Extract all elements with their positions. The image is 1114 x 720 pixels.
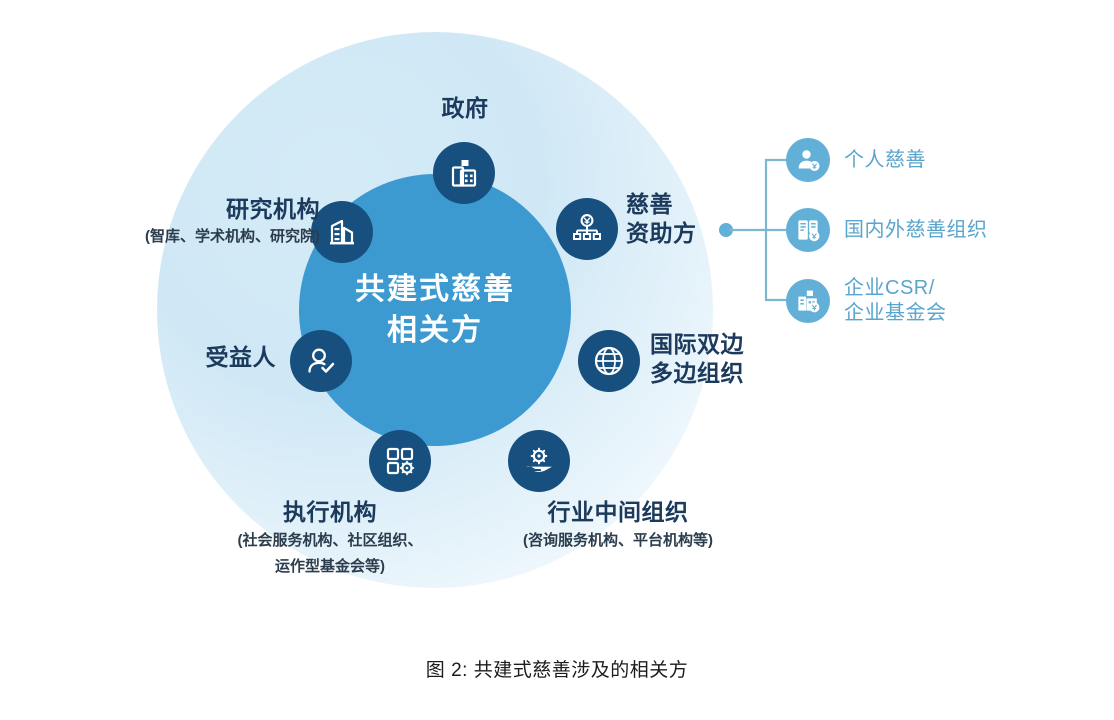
funding-hierarchy-icon[interactable] (556, 198, 618, 260)
label-government: 政府 (395, 94, 535, 123)
center-label-line1: 共建式慈善 (355, 269, 515, 310)
label-research-institution-subtitle: (智库、学术机构、研究院) (20, 227, 320, 246)
branch-item-individual-philanthropy[interactable]: 个人慈善 (786, 138, 926, 182)
person-money-icon (786, 138, 830, 182)
figure-caption: 图 2: 共建式慈善涉及的相关方 (0, 655, 1114, 682)
globe-icon[interactable] (578, 330, 640, 392)
person-check-icon[interactable] (290, 330, 352, 392)
center-label-line2: 相关方 (387, 310, 483, 351)
label-research-institution-title: 研究机构 (20, 195, 320, 224)
label-industry-intermediary-title: 行业中间组织 (468, 498, 768, 527)
branch-label-line1: 个人慈善 (844, 149, 926, 171)
office-building-icon[interactable] (311, 201, 373, 263)
branch-label-line1: 企业CSR/ (844, 276, 947, 301)
branch-item-corporate-csr-foundation[interactable]: 企业CSR/ 企业基金会 (786, 276, 947, 326)
branch-label-line1: 国内外慈善组织 (844, 219, 988, 241)
label-industry-intermediary-subtitle: (咨询服务机构、平台机构等) (468, 530, 768, 553)
funder-breakdown-branch: 个人慈善 (718, 130, 1108, 330)
label-beneficiary: 受益人 (80, 343, 276, 372)
figure-page: 共建式慈善 相关方 政府 (0, 0, 1114, 720)
label-industry-intermediary: 行业中间组织 (咨询服务机构、平台机构等) (468, 498, 768, 553)
label-beneficiary-title: 受益人 (80, 343, 276, 372)
branch-item-domestic-international-charities[interactable]: 国内外慈善组织 (786, 208, 988, 252)
company-money-icon (786, 279, 830, 323)
document-money-icon (786, 208, 830, 252)
branch-item-individual-philanthropy-label: 个人慈善 (844, 148, 926, 173)
label-executing-agency-subtitle-line1: (社会服务机构、社区组织、 (180, 530, 480, 553)
branch-item-corporate-csr-foundation-label: 企业CSR/ 企业基金会 (844, 276, 947, 326)
label-international-organization-line1: 国际双边 (650, 330, 850, 359)
label-research-institution: 研究机构 (智库、学术机构、研究院) (20, 195, 320, 247)
grid-gear-icon[interactable] (369, 430, 431, 492)
label-government-title: 政府 (395, 94, 535, 123)
label-executing-agency: 执行机构 (社会服务机构、社区组织、 运作型基金会等) (180, 498, 480, 578)
label-executing-agency-title: 执行机构 (180, 498, 480, 527)
gear-hand-icon[interactable] (508, 430, 570, 492)
label-executing-agency-subtitle-line2: 运作型基金会等) (180, 556, 480, 579)
label-international-organization-line2: 多边组织 (650, 359, 850, 388)
stakeholder-diagram: 共建式慈善 相关方 政府 (0, 0, 1114, 630)
branch-label-line2: 企业基金会 (844, 301, 947, 326)
label-international-organization: 国际双边 多边组织 (650, 330, 850, 389)
government-building-icon[interactable] (433, 142, 495, 204)
branch-item-domestic-international-charities-label: 国内外慈善组织 (844, 218, 988, 243)
